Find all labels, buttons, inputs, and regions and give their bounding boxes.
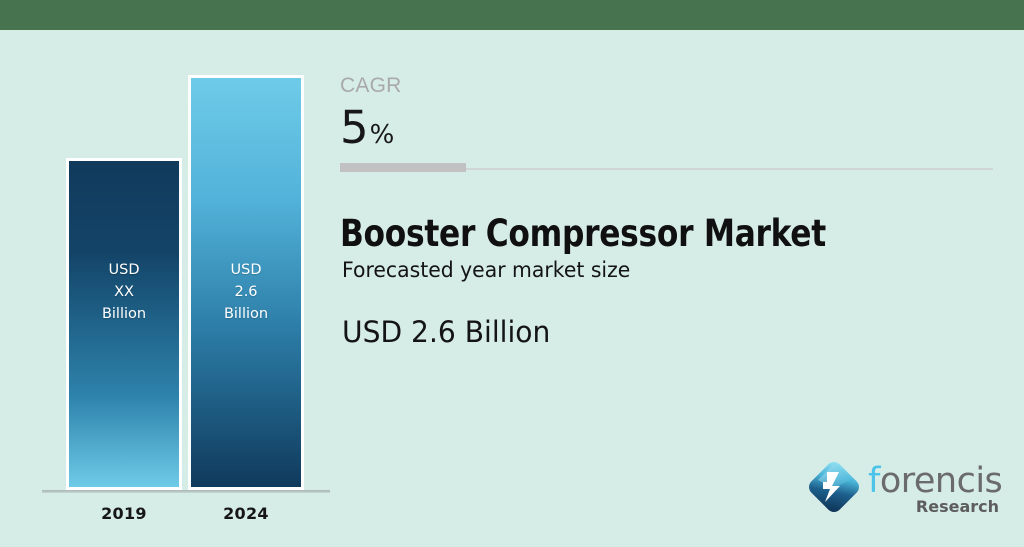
x-tick-2024: 2024 <box>188 504 304 523</box>
bar-2019-value: XX <box>114 284 134 300</box>
bar-2019-label: USDXXBillion <box>102 259 146 325</box>
bars-container: USDXXBillion USD2.6Billion <box>42 30 330 490</box>
bar-2024-fill: USD2.6Billion <box>191 78 301 487</box>
brand-logo[interactable]: forencis Research <box>805 450 1000 525</box>
forencis-diamond-icon <box>805 458 863 516</box>
bar-2019-fill: USDXXBillion <box>69 161 179 487</box>
bar-2024-unit: USD <box>231 262 262 278</box>
forecast-value: USD 2.6 Billion <box>342 315 550 349</box>
cagr-label: CAGR <box>340 74 401 98</box>
bar-chart: USDXXBillion USD2.6Billion 2019 2024 <box>0 30 330 547</box>
content-panel: CAGR 5 % Booster Compressor Market Forec… <box>340 30 1000 547</box>
x-tick-2019: 2019 <box>66 504 182 523</box>
logo-word-rest: orencis <box>880 461 1002 501</box>
cagr-percent-sign: % <box>370 113 395 158</box>
x-axis-line <box>42 490 330 493</box>
infographic-canvas: USDXXBillion USD2.6Billion 2019 2024 CAG… <box>0 0 1024 547</box>
bar-2024-value: 2.6 <box>234 284 257 300</box>
bar-2024-scale: Billion <box>224 306 268 322</box>
bar-2019-unit: USD <box>109 262 140 278</box>
bar-2019-scale: Billion <box>102 306 146 322</box>
top-green-band <box>0 0 1024 30</box>
cagr-number: 5 <box>340 105 369 150</box>
divider-rule <box>340 163 993 171</box>
cagr-value: 5 % <box>340 105 394 158</box>
divider-accent-segment <box>340 163 466 172</box>
logo-word-forencis: forencis <box>868 464 1002 499</box>
page-title: Booster Compressor Market <box>340 212 826 255</box>
bar-2024[interactable]: USD2.6Billion <box>188 75 304 490</box>
bar-2019[interactable]: USDXXBillion <box>66 158 182 490</box>
bar-2024-label: USD2.6Billion <box>224 259 268 325</box>
subtitle: Forecasted year market size <box>342 258 630 282</box>
logo-tagline: Research <box>916 497 999 516</box>
x-axis-tick-labels: 2019 2024 <box>42 504 330 534</box>
logo-wordmark: forencis Research <box>868 464 1000 516</box>
logo-word-accent: f <box>868 461 880 501</box>
